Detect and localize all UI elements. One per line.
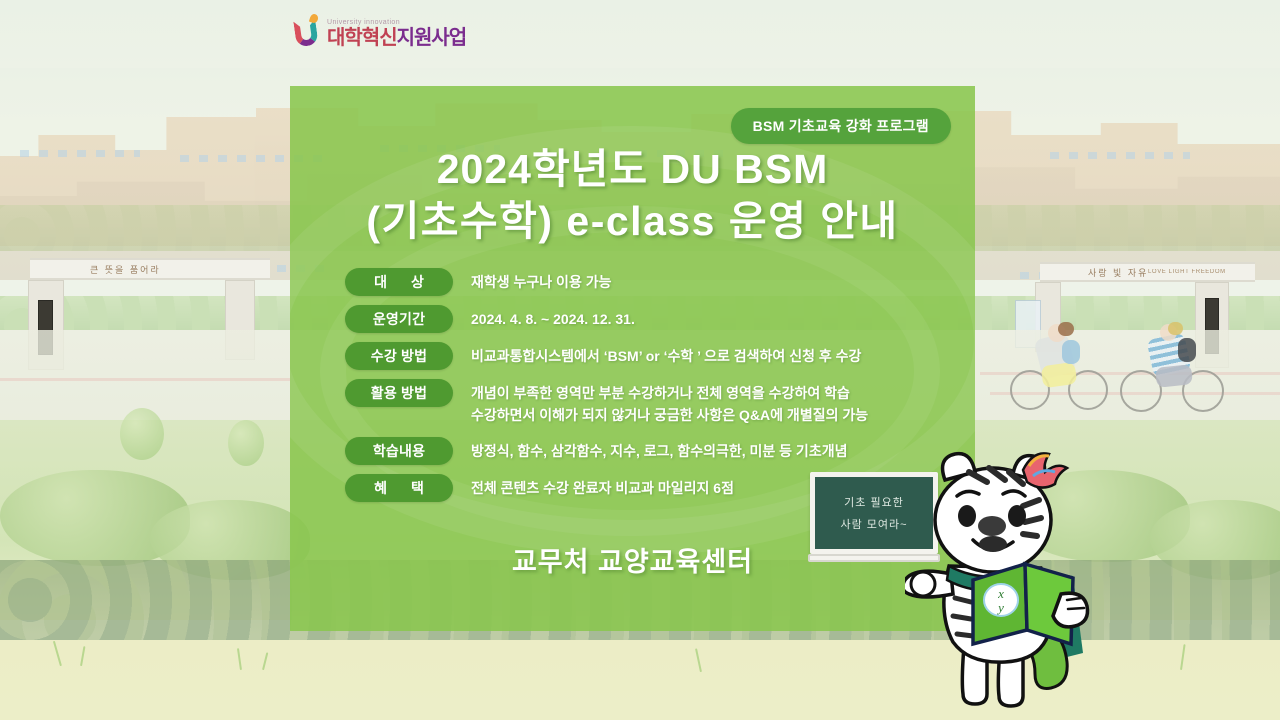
- logo-korean-part2: 지원사업: [397, 27, 467, 49]
- info-row: 학습내용 방정식, 함수, 삼각함수, 지수, 로그, 함수의극한, 미분 등 …: [345, 437, 945, 465]
- building-windows: [20, 150, 140, 157]
- tree: [228, 420, 264, 466]
- info-row-value-howto-use-line2: 수강하면서 이해가 되지 않거나 궁금한 사항은 Q&A에 개별질의 가능: [471, 405, 868, 427]
- info-row-label-howto-enroll: 수강 방법: [345, 342, 453, 370]
- program-badge: BSM 기초교육 강화 프로그램: [731, 108, 951, 144]
- left-gate-text: 큰 뜻을 품어라: [90, 263, 161, 276]
- poster-title: 2024학년도 DU BSM (기초수학) e-class 운영 안내: [290, 144, 975, 247]
- university-innovation-logo: University innovation 대학혁신지원사업: [295, 14, 466, 48]
- info-row: 대 상 재학생 누구나 이용 가능: [345, 268, 945, 296]
- info-row-value-howto-use: 개념이 부족한 영역만 부분 수강하거나 전체 영역을 수강하여 학습 수강하면…: [471, 379, 868, 426]
- info-row: 운영기간 2024. 4. 8. ~ 2024. 12. 31.: [345, 305, 945, 333]
- info-row-value-curriculum: 방정식, 함수, 삼각함수, 지수, 로그, 함수의극한, 미분 등 기초개념: [471, 437, 847, 463]
- page-header: University innovation 대학혁신지원사업: [0, 0, 1280, 68]
- tiger-mascot: x y: [905, 448, 1125, 710]
- info-row-label-benefit: 혜 택: [345, 474, 453, 502]
- book-label-y: y: [996, 600, 1004, 615]
- road-stripe: [0, 378, 290, 381]
- info-row-value-target: 재학생 누구나 이용 가능: [471, 268, 611, 294]
- logo-korean-text: 대학혁신지원사업: [327, 28, 466, 48]
- logo-korean-part1: 대학혁신: [327, 27, 397, 49]
- book-label-x: x: [997, 586, 1004, 601]
- info-row-value-benefit: 전체 콘텐츠 수강 완료자 비교과 마일리지 6점: [471, 474, 734, 500]
- info-row-label-target: 대 상: [345, 268, 453, 296]
- tiger-mascot-icon: x y: [905, 448, 1125, 710]
- info-row-label-curriculum: 학습내용: [345, 437, 453, 465]
- info-row: 활용 방법 개념이 부족한 영역만 부분 수강하거나 전체 영역을 수강하여 학…: [345, 379, 945, 426]
- blackboard-line1: 기초 필요한: [844, 494, 904, 510]
- info-row-value-howto-use-line1: 개념이 부족한 영역만 부분 수강하거나 전체 영역을 수강하여 학습: [471, 383, 868, 405]
- info-row-label-period: 운영기간: [345, 305, 453, 333]
- building-windows: [1050, 152, 1190, 159]
- info-row-value-howto-enroll: 비교과통합시스템에서 ‘BSM’ or ‘수학 ’ 으로 검색하여 신청 후 수…: [471, 342, 861, 368]
- logo-english-text: University innovation: [327, 19, 466, 26]
- right-gate-text-en: LOVE LIGHT FREEDOM: [1148, 269, 1226, 275]
- info-row-label-howto-use: 활용 방법: [345, 379, 453, 407]
- blackboard-line2: 사람 모여라~: [840, 516, 907, 532]
- logo-u-icon: [295, 14, 321, 48]
- right-gate-text-kr: 사랑 빛 자유: [1088, 266, 1148, 279]
- info-row-value-period: 2024. 4. 8. ~ 2024. 12. 31.: [471, 305, 635, 331]
- tree: [120, 408, 164, 460]
- poster-title-line2: (기초수학) e-class 운영 안내: [290, 196, 975, 248]
- info-row: 수강 방법 비교과통합시스템에서 ‘BSM’ or ‘수학 ’ 으로 검색하여 …: [345, 342, 945, 370]
- poster-title-line1: 2024학년도 DU BSM: [290, 144, 975, 196]
